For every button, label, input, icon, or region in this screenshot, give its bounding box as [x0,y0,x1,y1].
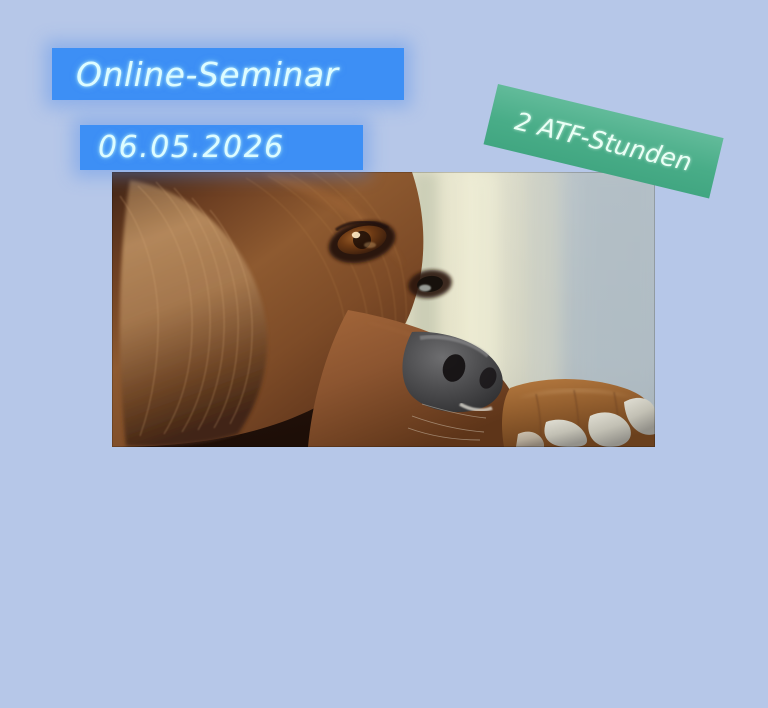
poster-canvas: Online-Seminar 06.05.2026 2 ATF-Stunden [0,0,768,708]
seminar-title-text: Online-Seminar [76,55,339,94]
dog-photo [112,172,655,447]
dog-photo-illustration [112,172,655,447]
seminar-date-text: 06.05.2026 [98,130,285,165]
atf-hours-text: 2 ATF-Stunden [512,106,695,176]
seminar-date-box: 06.05.2026 [80,125,363,170]
seminar-title-box: Online-Seminar [52,48,404,100]
